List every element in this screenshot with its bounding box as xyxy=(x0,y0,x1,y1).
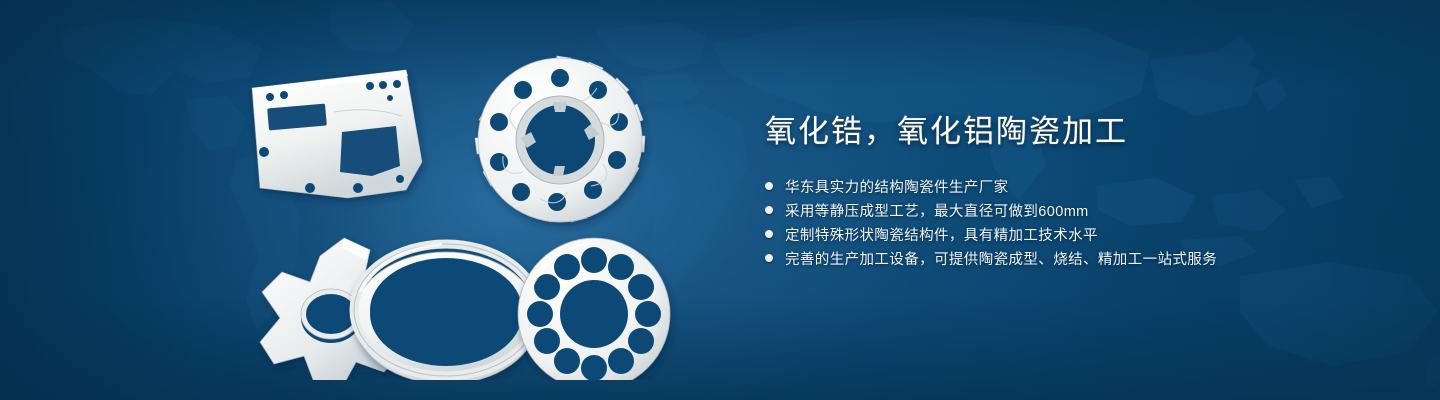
hero-banner: 氧化锆，氧化铝陶瓷加工 华东具实力的结构陶瓷件生产厂家 采用等静压成型工艺，最大… xyxy=(0,0,1440,400)
ceramic-products-photo xyxy=(230,40,700,380)
bullet-dot-icon xyxy=(765,182,773,190)
bullet-dot-icon xyxy=(765,230,773,238)
banner-headline: 氧化锆，氧化铝陶瓷加工 xyxy=(765,112,1385,152)
bullet-dot-icon xyxy=(765,254,773,262)
feature-list: 华东具实力的结构陶瓷件生产厂家 采用等静压成型工艺，最大直径可做到600mm 定… xyxy=(765,174,1385,270)
ceramic-plate-image xyxy=(252,70,422,198)
list-item: 完善的生产加工设备，可提供陶瓷成型、烧结、精加工一站式服务 xyxy=(765,246,1385,270)
list-item: 华东具实力的结构陶瓷件生产厂家 xyxy=(765,174,1385,198)
list-item: 定制特殊形状陶瓷结构件，具有精加工技术水平 xyxy=(765,222,1385,246)
feature-text: 定制特殊形状陶瓷结构件，具有精加工技术水平 xyxy=(785,224,1098,245)
ceramic-ring-image xyxy=(354,244,538,380)
banner-copy: 氧化锆，氧化铝陶瓷加工 华东具实力的结构陶瓷件生产厂家 采用等静压成型工艺，最大… xyxy=(765,112,1385,286)
ceramic-perforated-disc-image xyxy=(518,238,670,380)
bullet-dot-icon xyxy=(765,206,773,214)
ceramic-impeller-image xyxy=(475,56,645,222)
feature-text: 华东具实力的结构陶瓷件生产厂家 xyxy=(785,176,1009,197)
list-item: 采用等静压成型工艺，最大直径可做到600mm xyxy=(765,198,1385,222)
feature-text: 完善的生产加工设备，可提供陶瓷成型、烧结、精加工一站式服务 xyxy=(785,248,1217,269)
feature-text: 采用等静压成型工艺，最大直径可做到600mm xyxy=(785,200,1089,221)
